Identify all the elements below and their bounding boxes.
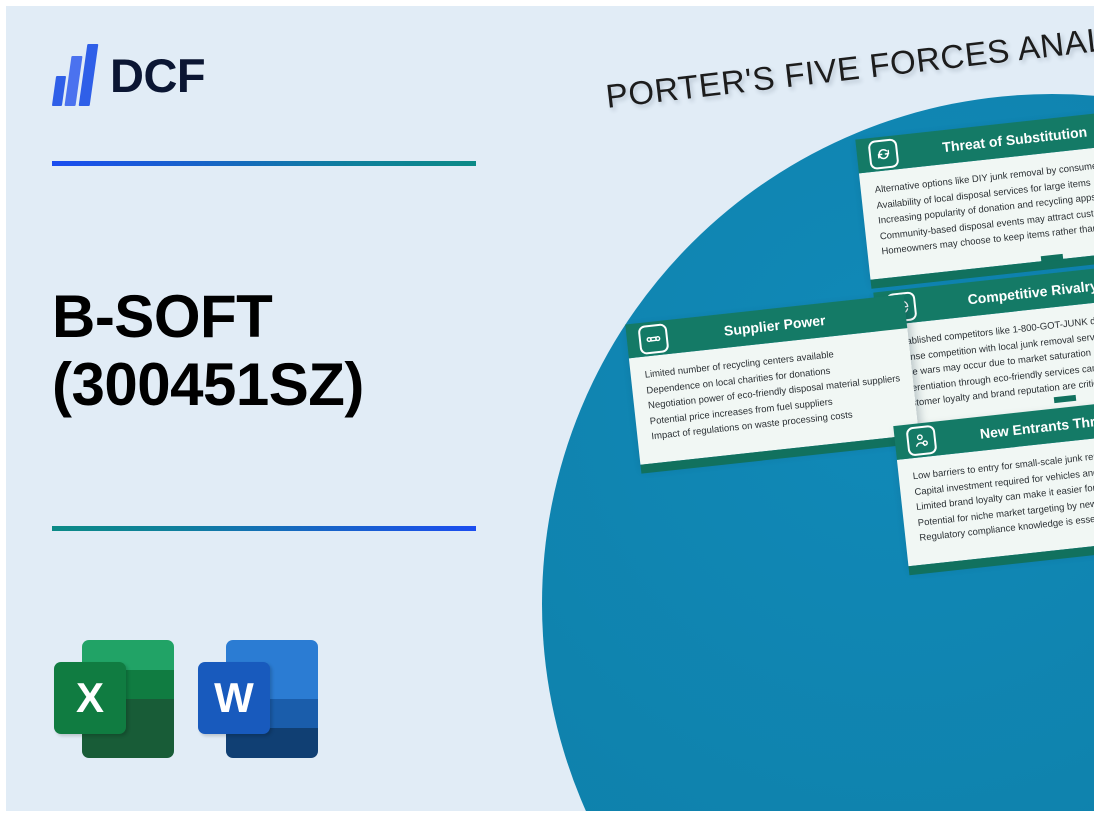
company-ticker: (300451SZ) [52, 351, 364, 419]
brand-name: DCF [110, 52, 205, 99]
logo-bar [52, 76, 66, 106]
divider-bottom [52, 526, 476, 531]
dumbbell-link-icon [637, 323, 669, 355]
excel-letter: X [54, 662, 126, 734]
bar-chart-logo-icon [52, 44, 96, 106]
company-heading: B-SOFT (300451SZ) [52, 283, 364, 420]
logo-bar [79, 44, 99, 106]
user-person-icon [905, 424, 937, 456]
brand-logo[interactable]: DCF [52, 44, 205, 106]
download-format-icons: X W [54, 636, 318, 760]
excel-file-icon[interactable]: X [54, 636, 174, 760]
force-card-supplier-power[interactable]: Supplier Power Limited number of recycli… [625, 294, 919, 464]
poster-page: PORTER'S FIVE FORCES ANALYSIS Threat of … [0, 0, 1100, 817]
company-name: B-SOFT [52, 283, 364, 351]
divider-top [52, 161, 476, 166]
refresh-sync-icon [867, 138, 899, 170]
word-file-icon[interactable]: W [198, 636, 318, 760]
word-letter: W [198, 662, 270, 734]
left-info-panel: DCF B-SOFT (300451SZ) X W [6, 6, 526, 817]
